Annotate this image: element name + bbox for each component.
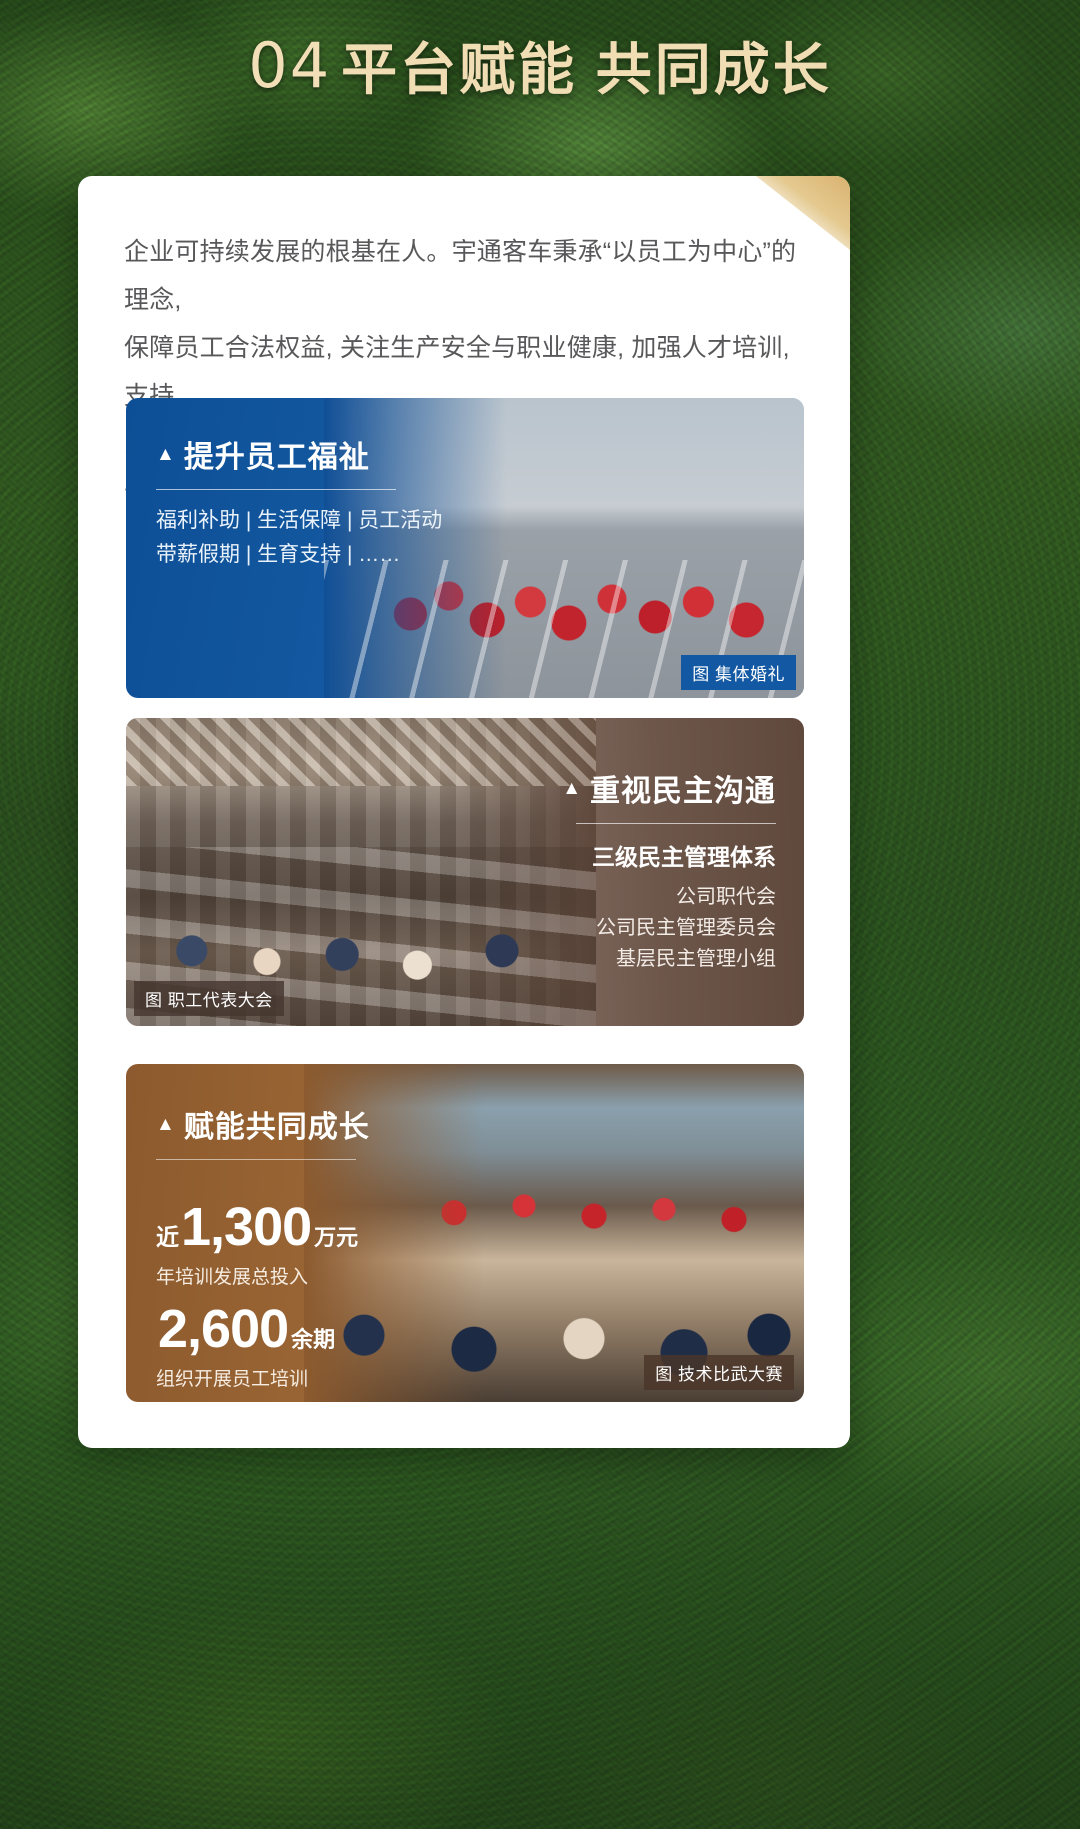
photo-workers-congress — [126, 718, 596, 1026]
photo-caption-badge-competition: 图 技术比武大赛 — [644, 1355, 794, 1390]
stat-label: 组织开展员工培训 — [156, 1364, 335, 1391]
card-growth-title-row: ▲ 赋能共同成长 — [156, 1102, 370, 1146]
triangle-marker-icon: ▲ — [562, 779, 582, 798]
divider — [576, 823, 776, 824]
stat-training-investment: 近 1,300 万元 年培训发展总投入 — [156, 1196, 358, 1289]
card-growth-title: 赋能共同成长 — [184, 1102, 370, 1146]
card-welfare-title: 提升员工福祉 — [184, 432, 370, 476]
list-item: 基层民主管理小组 — [562, 944, 776, 975]
stat-value: 1,300 — [181, 1196, 311, 1258]
intro-line-1: 企业可持续发展的根基在人。宇通客车秉承“以员工为中心”的理念, — [124, 228, 814, 324]
card-employee-welfare[interactable]: ▲ 提升员工福祉 福利补助 | 生活保障 | 员工活动 带薪假期 | 生育支持 … — [126, 398, 804, 698]
caption-prefix: 图 — [145, 991, 163, 1010]
card-welfare-title-row: ▲ 提升员工福祉 — [156, 432, 442, 476]
democracy-item-list: 公司职代会 公司民主管理委员会 基层民主管理小组 — [562, 882, 776, 975]
stat-value: 2,600 — [158, 1298, 288, 1360]
card-growth-header: ▲ 赋能共同成长 — [156, 1102, 370, 1174]
page-header: 04 平台赋能 共同成长 — [0, 0, 1080, 130]
welfare-list-line-2: 带薪假期 | 生育支持 | …… — [156, 538, 442, 572]
card-democratic-communication[interactable]: ▲ 重视民主沟通 三级民主管理体系 公司职代会 公司民主管理委员会 基层民主管理… — [126, 718, 804, 1026]
triangle-marker-icon: ▲ — [156, 1115, 176, 1134]
section-number: 04 — [248, 29, 331, 102]
list-item: 公司民主管理委员会 — [562, 913, 776, 944]
caption-prefix: 图 — [655, 1365, 673, 1384]
list-item: 公司职代会 — [562, 882, 776, 913]
caption-text: 技术比武大赛 — [678, 1365, 783, 1384]
page-title: 平台赋能 共同成长 — [341, 25, 832, 106]
caption-text: 集体婚礼 — [715, 665, 785, 684]
divider — [156, 489, 396, 490]
welfare-list-line-1: 福利补助 | 生活保障 | 员工活动 — [156, 504, 442, 538]
stat-training-sessions: 2,600 余期 组织开展员工培训 — [156, 1298, 335, 1391]
caption-text: 职工代表大会 — [168, 991, 273, 1010]
card-welfare-header: ▲ 提升员工福祉 福利补助 | 生活保障 | 员工活动 带薪假期 | 生育支持 … — [156, 432, 442, 572]
divider — [156, 1159, 356, 1160]
content-sheet: 企业可持续发展的根基在人。宇通客车秉承“以员工为中心”的理念, 保障员工合法权益… — [78, 176, 850, 1448]
triangle-marker-icon: ▲ — [156, 445, 176, 464]
card-democracy-header: ▲ 重视民主沟通 三级民主管理体系 公司职代会 公司民主管理委员会 基层民主管理… — [562, 766, 776, 975]
card-growth-empowerment[interactable]: ▲ 赋能共同成长 近 1,300 万元 年培训发展总投入 2,600 余期 组织… — [126, 1064, 804, 1402]
photo-caption-badge-congress: 图 职工代表大会 — [134, 981, 284, 1016]
stat-value-row: 2,600 余期 — [156, 1298, 335, 1360]
card-democracy-title: 重视民主沟通 — [590, 766, 776, 810]
card-democracy-title-row: ▲ 重视民主沟通 — [562, 766, 776, 810]
stat-label: 年培训发展总投入 — [156, 1262, 358, 1289]
photo-skills-competition — [304, 1064, 804, 1402]
stat-unit: 万元 — [314, 1220, 358, 1252]
stat-value-row: 近 1,300 万元 — [156, 1196, 358, 1258]
democracy-system-heading: 三级民主管理体系 — [562, 838, 776, 872]
stat-unit: 余期 — [291, 1322, 335, 1354]
photo-caption-badge-wedding: 图 集体婚礼 — [681, 655, 796, 690]
stat-prefix: 近 — [156, 1218, 179, 1252]
caption-prefix: 图 — [692, 665, 710, 684]
